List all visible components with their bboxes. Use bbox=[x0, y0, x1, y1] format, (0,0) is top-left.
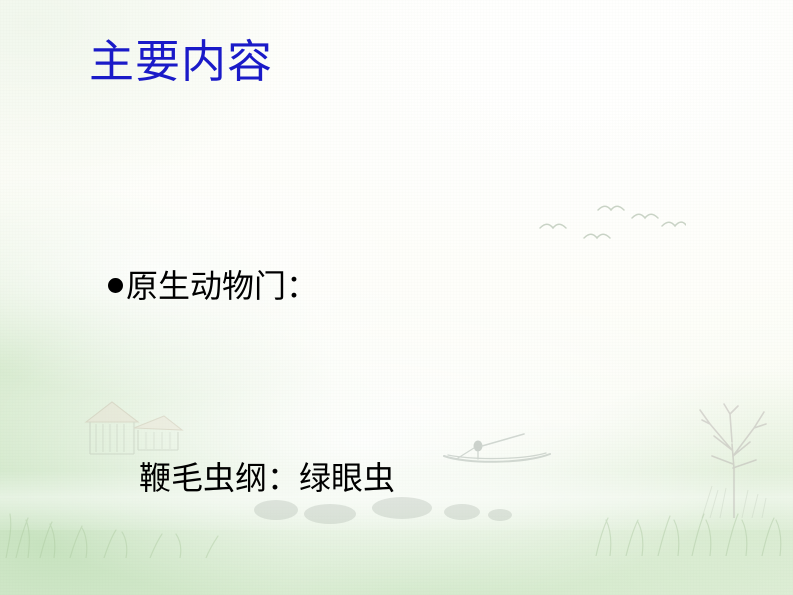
list-item-label: 原生动物门： bbox=[126, 262, 318, 310]
page-title: 主要内容 bbox=[89, 38, 273, 87]
bullet-icon bbox=[108, 278, 123, 293]
list-item-label: 鞭毛虫纲：绿眼虫 bbox=[139, 454, 395, 502]
content-list: 原生动物门： 鞭毛虫纲：绿眼虫 肉足纲： 变形虫 孢子虫纲：间日疟原虫 纤毛虫纲… bbox=[108, 118, 748, 595]
slide-content: 主要内容 原生动物门： 鞭毛虫纲：绿眼虫 肉足纲： 变形虫 孢子虫纲：间日疟原虫… bbox=[0, 0, 793, 595]
presentation-slide: 主要内容 原生动物门： 鞭毛虫纲：绿眼虫 肉足纲： 变形虫 孢子虫纲：间日疟原虫… bbox=[0, 0, 793, 595]
list-item: 原生动物门： bbox=[108, 262, 748, 310]
list-item: 鞭毛虫纲：绿眼虫 bbox=[108, 454, 748, 502]
